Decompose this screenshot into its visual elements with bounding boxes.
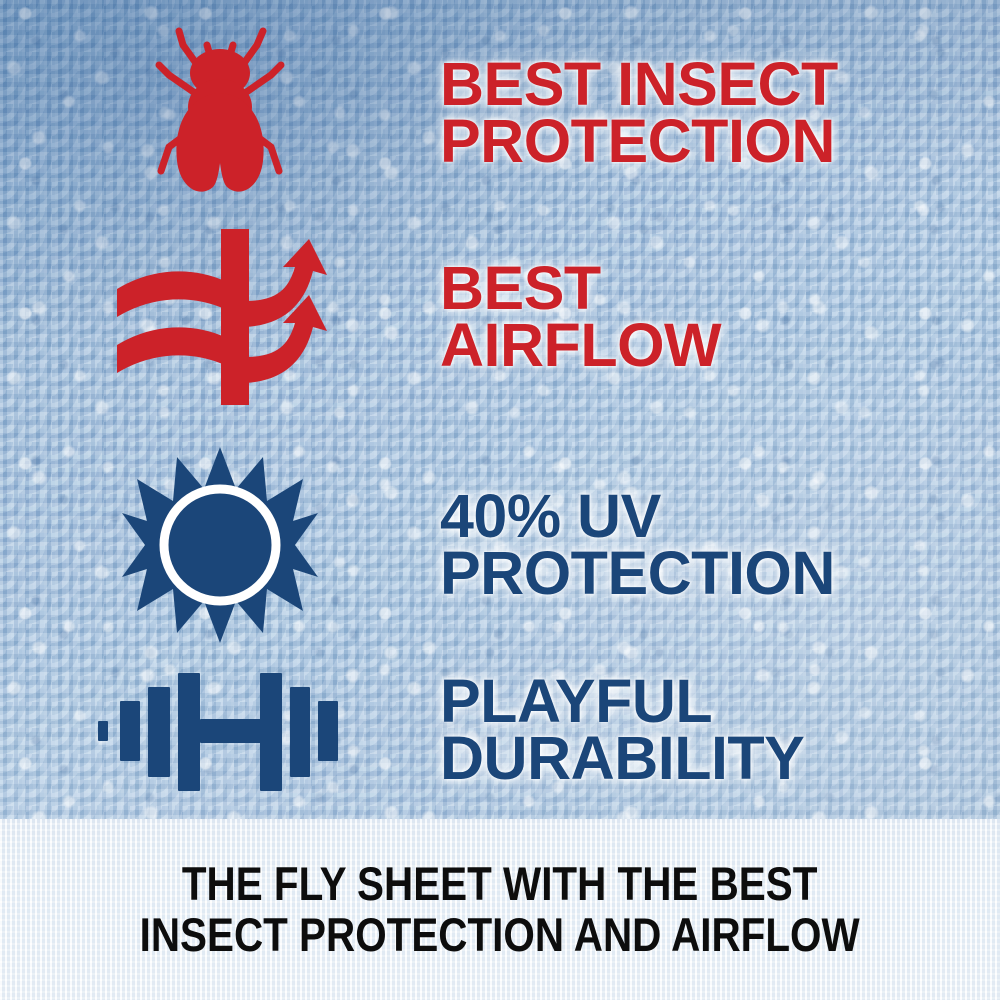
feature-label-insect-protection: BEST INSECT PROTECTION — [440, 56, 1000, 171]
text-cell-airflow: BEST AIRFLOW — [440, 260, 1000, 375]
feature-label-durability: PLAYFUL DURABILITY — [440, 673, 1000, 788]
dumbbell-icon — [96, 665, 344, 795]
text-cell-insect: BEST INSECT PROTECTION — [440, 56, 1000, 171]
feature-label-uv-protection: 40% UV PROTECTION — [440, 488, 1000, 603]
icon-cell-uv — [0, 445, 440, 645]
caption-headline: THE FLY SHEET WITH THE BEST INSECT PROTE… — [140, 859, 860, 961]
feature-row-insect-protection: BEST INSECT PROTECTION — [0, 18, 1000, 208]
feature-list: BEST INSECT PROTECTION — [0, 0, 1000, 819]
feature-row-airflow: BEST AIRFLOW — [0, 222, 1000, 412]
feature-label-airflow: BEST AIRFLOW — [440, 260, 1000, 375]
fly-icon — [145, 21, 295, 206]
text-cell-uv: 40% UV PROTECTION — [440, 488, 1000, 603]
feature-row-uv-protection: 40% UV PROTECTION — [0, 440, 1000, 650]
infographic-poster: BEST INSECT PROTECTION — [0, 0, 1000, 1000]
airflow-arrows-icon — [113, 227, 328, 407]
feature-row-durability: PLAYFUL DURABILITY — [0, 650, 1000, 810]
caption-panel: THE FLY SHEET WITH THE BEST INSECT PROTE… — [0, 819, 1000, 1000]
icon-cell-airflow — [0, 227, 440, 407]
sun-uv-icon — [120, 445, 320, 645]
icon-cell-durability — [0, 665, 440, 795]
text-cell-durability: PLAYFUL DURABILITY — [440, 673, 1000, 788]
icon-cell-insect — [0, 21, 440, 206]
